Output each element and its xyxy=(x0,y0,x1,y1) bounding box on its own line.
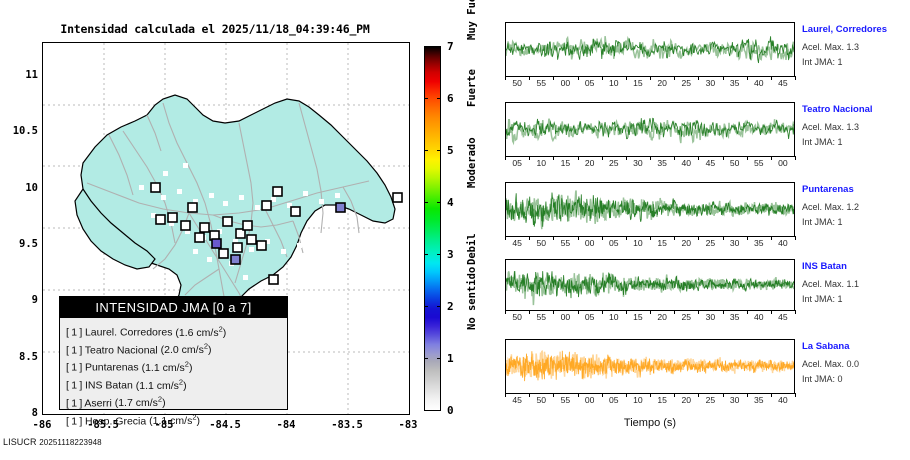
time-axis-tickmarks xyxy=(505,76,795,80)
lat-tick-6: 8 xyxy=(2,407,38,419)
intensity-colorbar xyxy=(424,46,441,411)
legend-entry-station: Puntarenas xyxy=(85,362,139,374)
lat-tick-4: 9 xyxy=(2,294,38,306)
time-axis-tickmarks xyxy=(505,156,795,160)
colorbar-tick-4 xyxy=(424,202,441,203)
colorbar-tick-5 xyxy=(424,150,441,151)
station-max-acceleration: Acel. Max. 1.1 xyxy=(802,279,859,289)
time-axis-tickmarks xyxy=(505,310,795,314)
lat-tick-2: 10 xyxy=(2,182,38,194)
lat-tick-1: 10.5 xyxy=(2,125,38,137)
watermark: LISUCR 20251118223948 xyxy=(3,437,102,447)
legend-entry-station: Teatro Nacional xyxy=(85,344,158,356)
station-name: Puntarenas xyxy=(802,184,854,195)
time-axis-tickmarks xyxy=(505,393,795,397)
seismogram-trace[interactable] xyxy=(505,339,795,394)
legend-entry: [ 1 ] Hosp. Grecia (1.1 cm/s2) xyxy=(66,411,287,429)
legend-entry: [ 1 ] Laurel. Corredores (1.6 cm/s2) xyxy=(66,322,287,340)
legend-entry-level: [ 1 ] xyxy=(66,380,82,392)
legend-entry-station: Laurel. Corredores xyxy=(85,327,173,339)
lon-tick-0: -86 xyxy=(22,419,62,431)
colorbar-value-4: 4 xyxy=(447,196,461,209)
lat-tick-5: 8.5 xyxy=(2,351,38,363)
legend-entry-station: INS Batan xyxy=(85,380,133,392)
colorbar-value-7: 7 xyxy=(447,40,461,53)
station-jma-intensity: Int JMA: 1 xyxy=(802,294,843,304)
legend-entry-accel: (1.1 cm/s2) xyxy=(149,415,200,427)
station-jma-intensity: Int JMA: 1 xyxy=(802,217,843,227)
intensity-legend: INTENSIDAD JMA [0 a 7] [ 1 ] Laurel. Cor… xyxy=(59,296,288,410)
legend-entry: [ 1 ] Aserri (1.7 cm/s2) xyxy=(66,393,287,411)
colorbar-label-no-sentido: No sentido xyxy=(466,267,478,330)
station-max-acceleration: Acel. Max. 1.3 xyxy=(802,122,859,132)
seismogram-trace[interactable] xyxy=(505,22,795,77)
legend-entry-accel: (1.6 cm/s2) xyxy=(175,327,226,339)
colorbar-label-debil: Debil xyxy=(466,233,478,265)
colorbar-label-moderado: Moderado xyxy=(466,137,478,188)
colorbar-tick-6 xyxy=(424,98,441,99)
station-name: INS Batan xyxy=(802,261,847,272)
legend-entry-list: [ 1 ] Laurel. Corredores (1.6 cm/s2)[ 1 … xyxy=(60,318,287,428)
station-name: Teatro Nacional xyxy=(802,104,873,115)
lon-tick-5: -83.5 xyxy=(327,419,367,431)
legend-entry-level: [ 1 ] xyxy=(66,327,82,339)
legend-entry-accel: (1.7 cm/s2) xyxy=(115,397,166,409)
colorbar-tick-3 xyxy=(424,254,441,255)
station-jma-intensity: Int JMA: 0 xyxy=(802,374,843,384)
time-axis-tickmarks xyxy=(505,236,795,240)
legend-entry: [ 1 ] Teatro Nacional (2.0 cm/s2) xyxy=(66,340,287,358)
legend-entry-station: Aserri xyxy=(84,397,111,409)
station-name: Laurel, Corredores xyxy=(802,24,887,35)
watermark-agency: LISUCR xyxy=(3,437,37,447)
station-jma-intensity: Int JMA: 1 xyxy=(802,57,843,67)
legend-entry-accel: (1.1 cm/s2) xyxy=(142,362,193,374)
station-jma-intensity: Int JMA: 1 xyxy=(802,137,843,147)
colorbar-value-6: 6 xyxy=(447,92,461,105)
legend-entry-accel: (2.0 cm/s2) xyxy=(161,344,212,356)
station-max-acceleration: Acel. Max. 1.2 xyxy=(802,202,859,212)
seismogram-trace[interactable] xyxy=(505,182,795,237)
map-title: Intensidad calculada el 2025/11/18_04:39… xyxy=(0,22,430,36)
lat-tick-0: 11 xyxy=(2,69,38,81)
colorbar-label-fuerte: Fuerte xyxy=(466,69,478,107)
legend-entry-level: [ 1 ] xyxy=(66,344,82,356)
colorbar-value-0: 0 xyxy=(447,404,461,417)
station-max-acceleration: Acel. Max. 0.0 xyxy=(802,359,859,369)
legend-entry-level: [ 1 ] xyxy=(66,415,82,427)
legend-entry-level: [ 1 ] xyxy=(66,397,82,409)
lon-tick-6: -83 xyxy=(388,419,428,431)
colorbar-tick-2 xyxy=(424,306,441,307)
legend-entry-station: Hosp. Grecia xyxy=(85,415,146,427)
colorbar-value-1: 1 xyxy=(447,352,461,365)
legend-title: INTENSIDAD JMA [0 a 7] xyxy=(60,297,287,318)
seismogram-trace[interactable] xyxy=(505,102,795,157)
legend-entry: [ 1 ] Puntarenas (1.1 cm/s2) xyxy=(66,357,287,375)
legend-entry: [ 1 ] INS Batan (1.1 cm/s2) xyxy=(66,375,287,393)
watermark-id: 20251118223948 xyxy=(39,438,102,447)
colorbar-value-5: 5 xyxy=(447,144,461,157)
station-name: La Sabana xyxy=(802,341,850,352)
lat-tick-3: 9.5 xyxy=(2,238,38,250)
colorbar-value-2: 2 xyxy=(447,300,461,313)
seismogram-trace[interactable] xyxy=(505,259,795,311)
time-axis-label: Tiempo (s) xyxy=(505,417,795,429)
legend-entry-level: [ 1 ] xyxy=(66,362,82,374)
colorbar-value-3: 3 xyxy=(447,248,461,261)
colorbar-label-muy-fuerte: Muy Fuerte xyxy=(466,0,478,40)
legend-entry-accel: (1.1 cm/s2) xyxy=(136,380,187,392)
station-max-acceleration: Acel. Max. 1.3 xyxy=(802,42,859,52)
colorbar-tick-1 xyxy=(424,358,441,359)
